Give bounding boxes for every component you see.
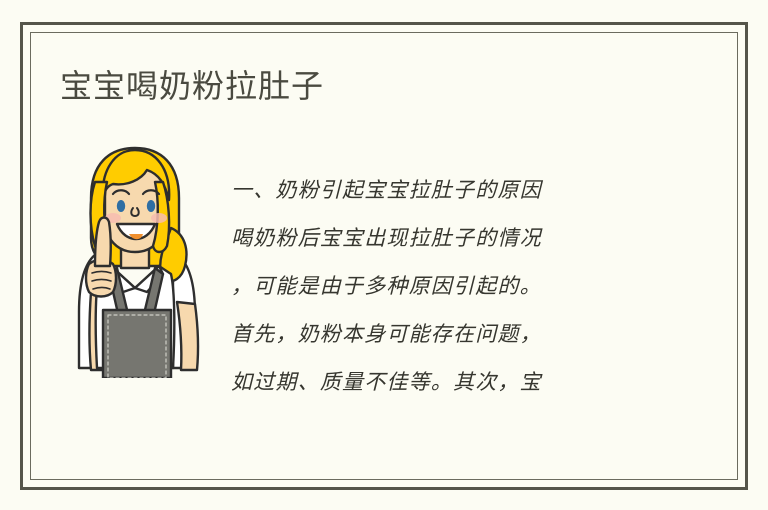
article-line: 一、奶粉引起宝宝拉肚子的原因 bbox=[231, 166, 645, 214]
right-arm bbox=[177, 302, 198, 370]
article-body: 一、奶粉引起宝宝拉肚子的原因 喝奶粉后宝宝出现拉肚子的情况 ，可能是由于多种原因… bbox=[231, 166, 645, 406]
cartoon-woman-pointing-up-illustration bbox=[55, 142, 215, 378]
article-line: ，可能是由于多种原因引起的。 bbox=[231, 262, 645, 310]
blush-right bbox=[151, 213, 167, 223]
article-line: 喝奶粉后宝宝出现拉肚子的情况 bbox=[231, 214, 645, 262]
article-line: 首先，奶粉本身可能存在问题， bbox=[231, 310, 645, 358]
eye-left bbox=[117, 200, 125, 212]
article-page: 宝宝喝奶粉拉肚子 bbox=[0, 0, 768, 510]
article-line: 如过期、质量不佳等。其次，宝 bbox=[231, 358, 645, 406]
index-finger bbox=[95, 218, 111, 267]
apron-bib bbox=[103, 310, 171, 378]
eye-right bbox=[147, 200, 155, 212]
page-title: 宝宝喝奶粉拉肚子 bbox=[60, 66, 324, 106]
